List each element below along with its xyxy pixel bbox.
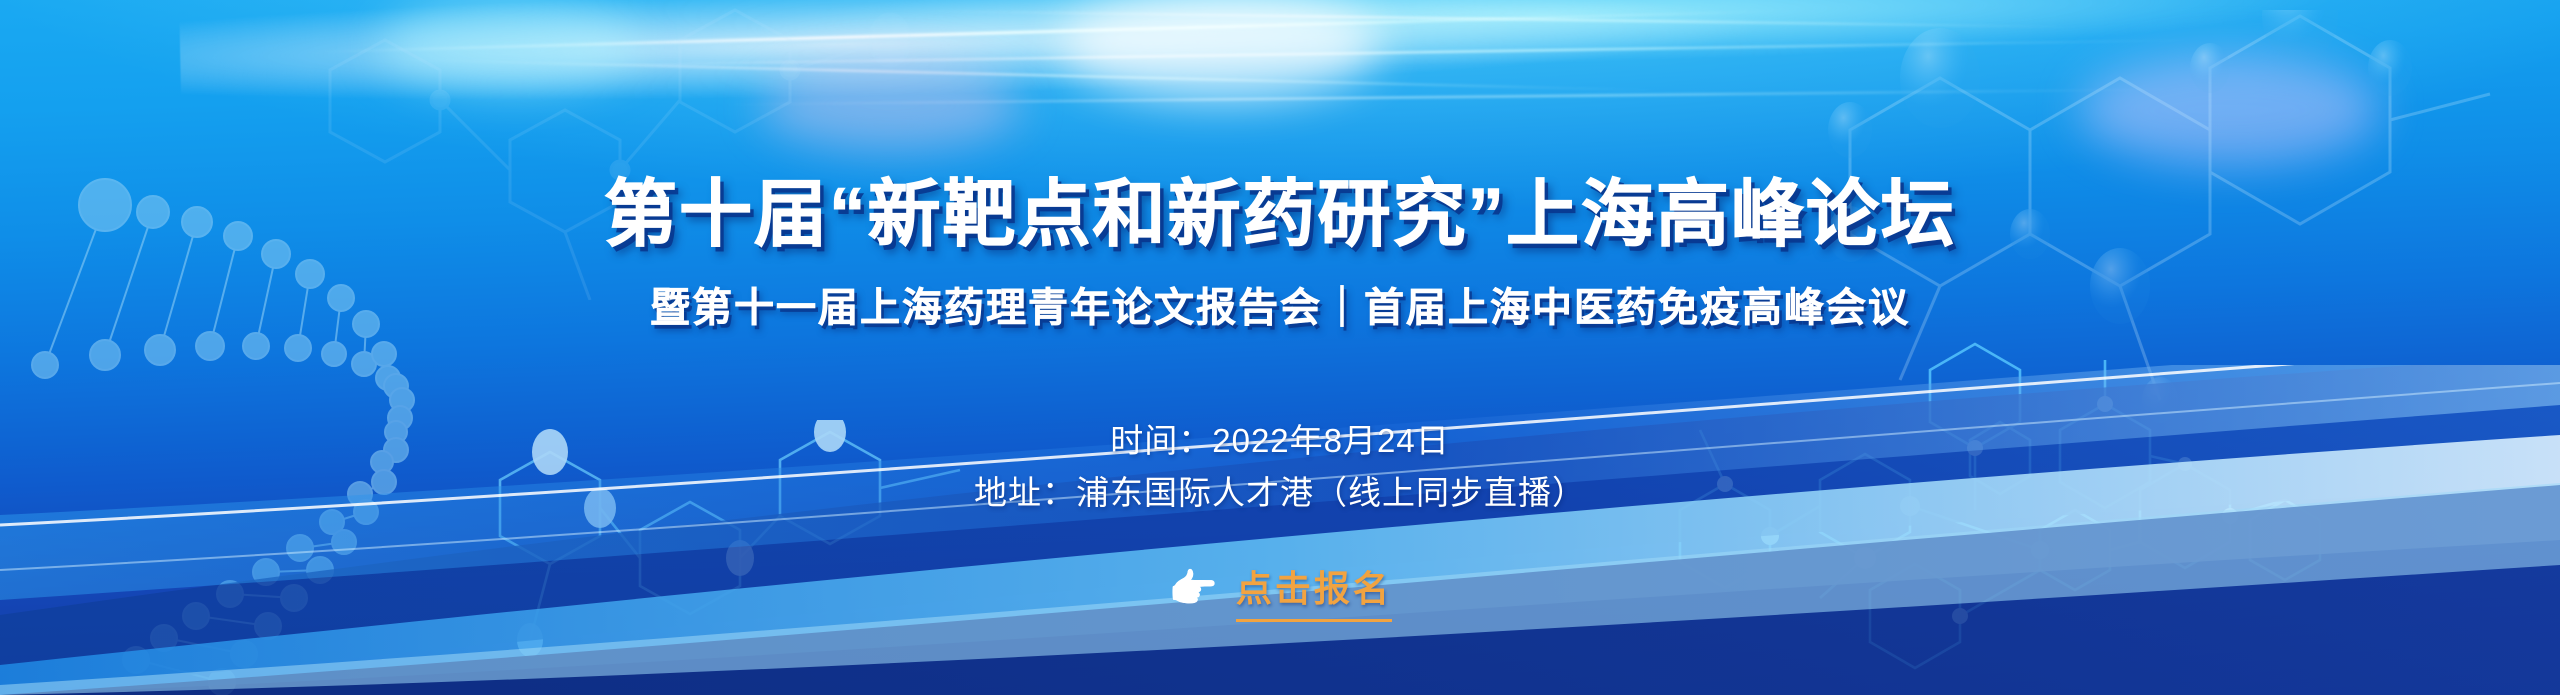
event-info: 时间：2022年8月24日 地址：浦东国际人才港（线上同步直播） — [0, 415, 2560, 519]
register-cta: 👉 点击报名 — [0, 560, 2560, 622]
pointing-hand-icon: 👉 — [1168, 569, 1218, 609]
conference-banner: 第十届“新靶点和新药研究”上海高峰论坛 暨第十一届上海药理青年论文报告会｜首届上… — [0, 0, 2560, 695]
page-title: 第十届“新靶点和新药研究”上海高峰论坛 — [0, 178, 2560, 251]
register-label[interactable]: 点击报名 — [1236, 560, 1392, 622]
event-address: 地址：浦东国际人才港（线上同步直播） — [0, 467, 2560, 519]
register-button[interactable]: 👉 点击报名 — [1168, 560, 1392, 622]
event-time: 时间：2022年8月24日 — [0, 415, 2560, 467]
page-subtitle: 暨第十一届上海药理青年论文报告会｜首届上海中医药免疫高峰会议 — [0, 288, 2560, 328]
banner-content: 第十届“新靶点和新药研究”上海高峰论坛 暨第十一届上海药理青年论文报告会｜首届上… — [0, 0, 2560, 695]
